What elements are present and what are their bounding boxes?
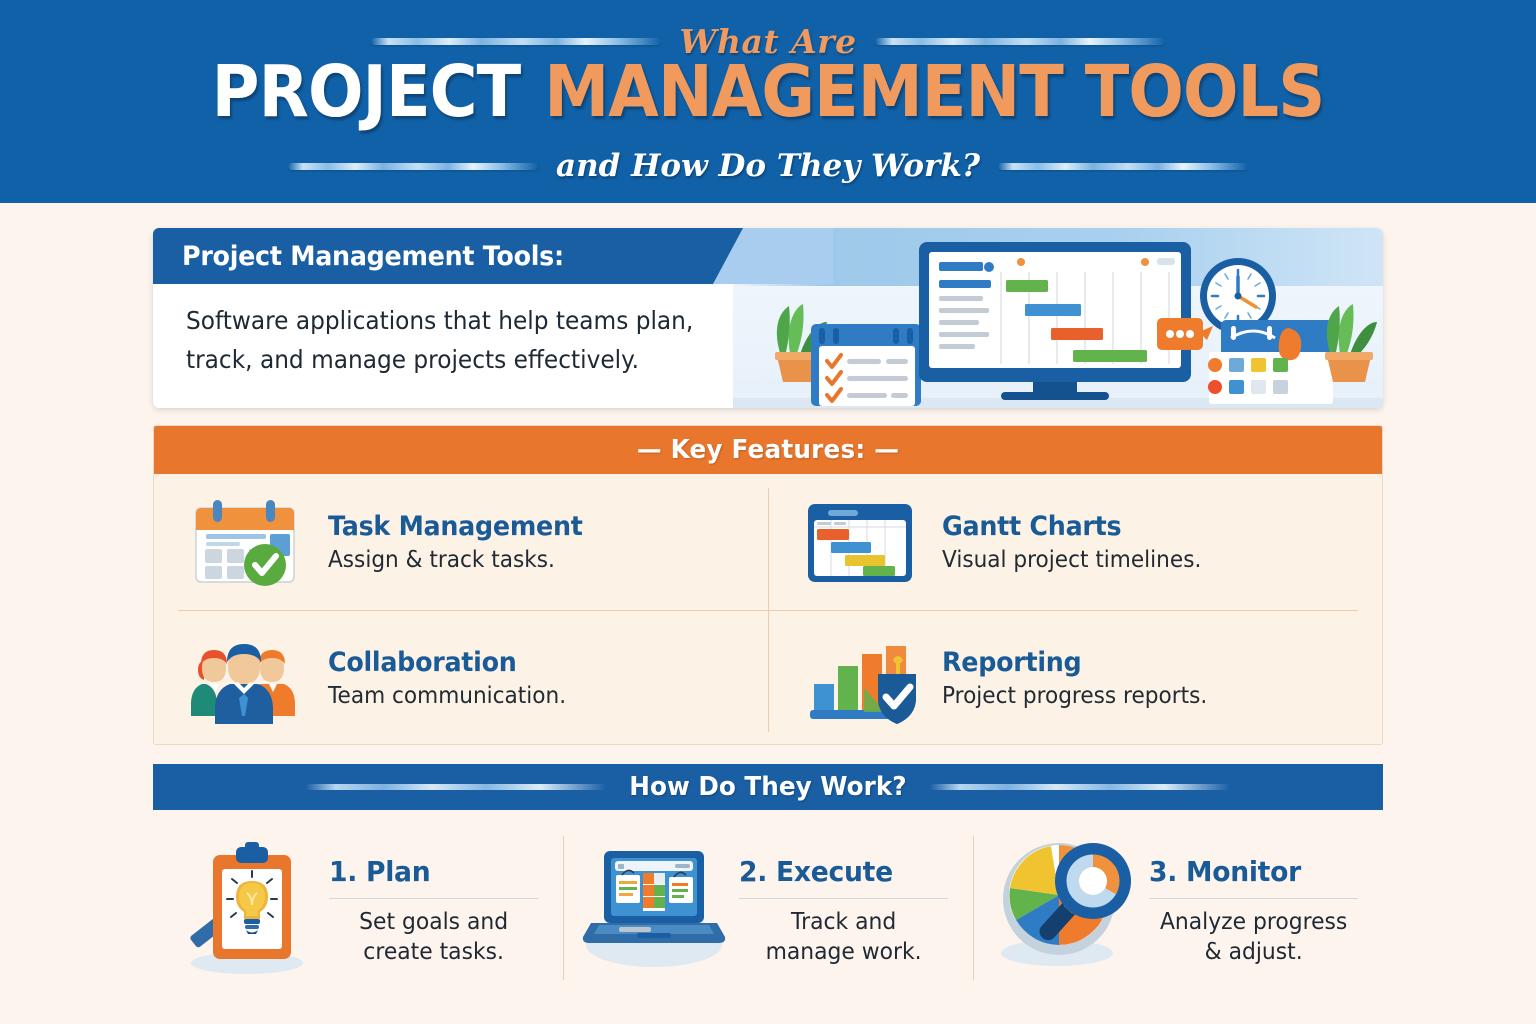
feature-desc: Team communication. bbox=[328, 683, 717, 709]
clipboard-lightbulb-icon bbox=[169, 833, 319, 983]
feature-desc: Assign & track tasks. bbox=[328, 547, 717, 573]
feature-title: Reporting bbox=[942, 647, 1331, 678]
how-it-works-dash-left bbox=[306, 784, 606, 790]
key-features-horizontal-divider bbox=[178, 610, 1358, 611]
gantt-chart-icon bbox=[800, 496, 920, 588]
step-desc: Set goals and create tasks. bbox=[334, 908, 533, 967]
pie-chart-magnifier-icon bbox=[989, 833, 1139, 983]
feature-desc: Visual project timelines. bbox=[942, 547, 1331, 573]
page-subtitle: and How Do They Work? bbox=[556, 148, 980, 184]
step-item-plan[interactable]: 1. Plan Set goals and create tasks. bbox=[153, 818, 563, 998]
team-people-icon bbox=[186, 632, 306, 724]
header-dash-left bbox=[371, 38, 661, 45]
key-features-grid: Task Management Assign & track tasks. bbox=[154, 474, 1382, 745]
page-header: What Are PROJECTMANAGEMENT TOOLS and How… bbox=[0, 0, 1536, 203]
checklist-clipboard-icon bbox=[811, 324, 921, 406]
step-title: 3. Monitor bbox=[1149, 855, 1356, 888]
feature-item-gantt-charts[interactable]: Gantt Charts Visual project timelines. bbox=[768, 474, 1382, 610]
calendar-right-icon bbox=[1208, 320, 1333, 404]
definition-tab: Project Management Tools: bbox=[153, 228, 743, 284]
key-features-panel: — Key Features: — bbox=[153, 425, 1383, 745]
step-desc: Track and manage work. bbox=[744, 908, 943, 967]
definition-text: Software applications that help teams pl… bbox=[186, 302, 707, 380]
plant-right-icon bbox=[1325, 304, 1377, 382]
key-features-band: — Key Features: — bbox=[154, 426, 1382, 474]
step-rule bbox=[329, 898, 538, 899]
feature-title: Task Management bbox=[328, 511, 717, 542]
key-features-title: — Key Features: — bbox=[637, 435, 899, 465]
step-desc: Analyze progress & adjust. bbox=[1154, 908, 1353, 967]
how-it-works-steps: 1. Plan Set goals and create tasks. bbox=[153, 818, 1383, 998]
feature-item-reporting[interactable]: Reporting Project progress reports. bbox=[768, 610, 1382, 745]
header-dash-right bbox=[875, 38, 1165, 45]
how-it-works-band: How Do They Work? bbox=[153, 764, 1383, 810]
feature-title: Gantt Charts bbox=[942, 511, 1331, 542]
step-item-monitor[interactable]: 3. Monitor Analyze progress & adjust. bbox=[973, 818, 1383, 998]
calendar-check-icon bbox=[186, 496, 306, 588]
page-title: PROJECTMANAGEMENT TOOLS bbox=[61, 56, 1474, 127]
definition-tab-title: Project Management Tools: bbox=[182, 241, 564, 272]
page-title-white: PROJECT bbox=[212, 50, 521, 133]
step-rule bbox=[1149, 898, 1358, 899]
laptop-kanban-icon bbox=[579, 833, 729, 983]
monitor-gantt-icon bbox=[919, 242, 1191, 400]
definition-body: Software applications that help teams pl… bbox=[186, 302, 746, 380]
step-title: 1. Plan bbox=[329, 855, 536, 888]
step-title: 2. Execute bbox=[739, 855, 946, 888]
feature-item-collaboration[interactable]: Collaboration Team communication. bbox=[154, 610, 768, 745]
feature-item-task-management[interactable]: Task Management Assign & track tasks. bbox=[154, 474, 768, 610]
how-it-works-title: How Do They Work? bbox=[629, 772, 906, 802]
how-it-works-dash-right bbox=[930, 784, 1230, 790]
feature-title: Collaboration bbox=[328, 647, 717, 678]
step-item-execute[interactable]: 2. Execute Track and manage work. bbox=[563, 818, 973, 998]
definition-card: Project Management Tools: Software appli… bbox=[153, 228, 1383, 408]
header-subdash-left bbox=[288, 163, 538, 170]
step-rule bbox=[739, 898, 948, 899]
page-title-orange: MANAGEMENT TOOLS bbox=[544, 50, 1324, 133]
header-subtitle-row: and How Do They Work? bbox=[0, 148, 1536, 184]
bar-chart-shield-icon bbox=[800, 632, 920, 724]
header-subdash-right bbox=[998, 163, 1248, 170]
feature-desc: Project progress reports. bbox=[942, 683, 1331, 709]
chat-bubble-icon bbox=[1157, 318, 1213, 350]
